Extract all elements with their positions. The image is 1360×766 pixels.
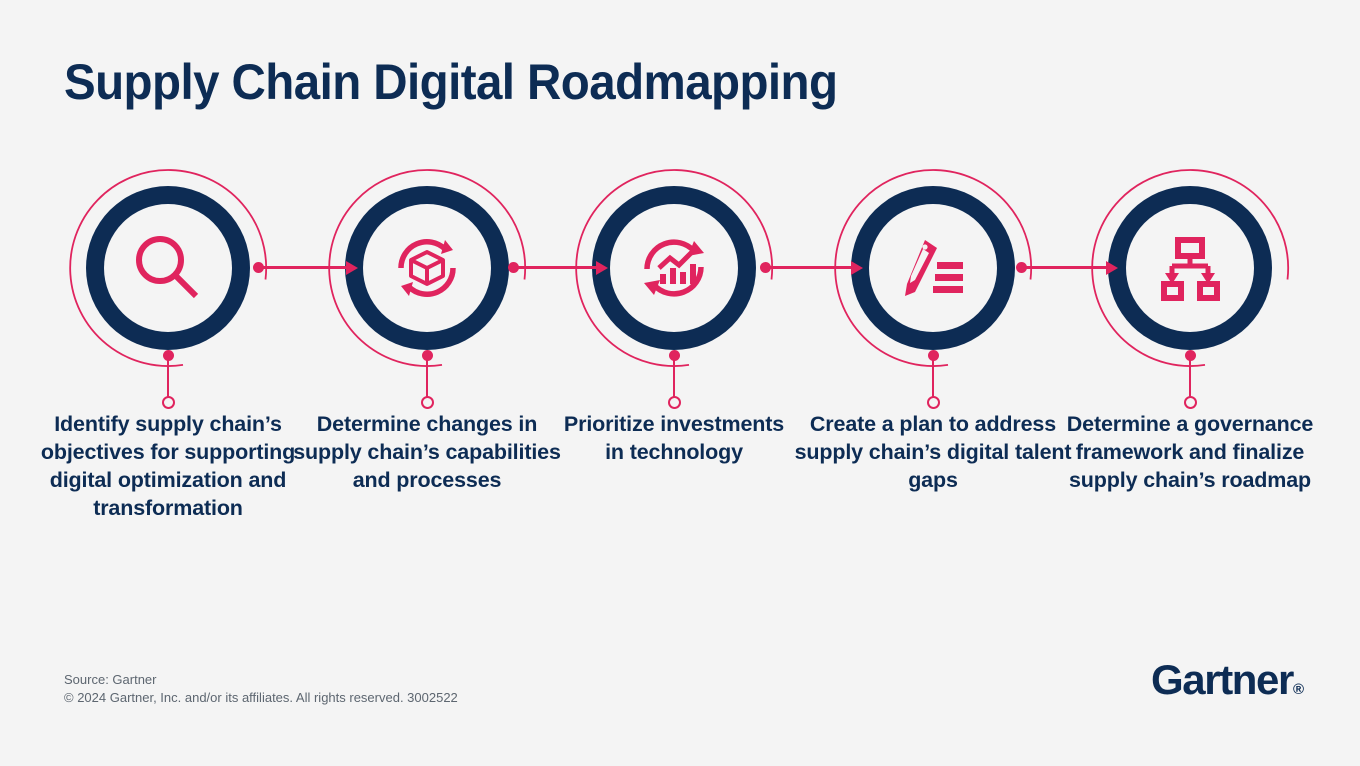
cube-refresh-icon xyxy=(385,226,469,310)
connector-arrowhead xyxy=(346,261,358,275)
registered-trademark-icon: ® xyxy=(1293,681,1304,698)
step-4-node xyxy=(833,168,1033,368)
footer-copyright: © 2024 Gartner, Inc. and/or its affiliat… xyxy=(64,689,458,707)
gartner-logo: Gartner® xyxy=(1151,659,1304,701)
step-1-node xyxy=(68,168,268,368)
connector-line xyxy=(1022,266,1110,269)
step-2-stem-endpoint xyxy=(421,396,434,409)
step-4-label: Create a plan to address supply chain’s … xyxy=(788,410,1078,494)
step-4-stem-endpoint xyxy=(927,396,940,409)
connector-dot xyxy=(760,262,771,273)
step-4-stem xyxy=(932,354,934,402)
step-2: Determine changes in supply chain’s capa… xyxy=(299,168,555,598)
connector-dot xyxy=(508,262,519,273)
connector-arrowhead xyxy=(1106,261,1118,275)
connector-arrow-3 xyxy=(760,260,863,276)
step-1-label: Identify supply chain’s objectives for s… xyxy=(23,410,313,522)
step-2-stem xyxy=(426,354,428,402)
magnifying-glass-icon xyxy=(126,226,210,310)
hierarchy-icon xyxy=(1148,226,1232,310)
step-5-node xyxy=(1090,168,1290,368)
step-3-stem xyxy=(673,354,675,402)
step-1-stem-endpoint xyxy=(162,396,175,409)
connector-arrowhead xyxy=(596,261,608,275)
connector-line xyxy=(259,266,350,269)
infographic-page: Supply Chain Digital Roadmapping xyxy=(0,0,1360,766)
connector-dot xyxy=(253,262,264,273)
connector-arrow-2 xyxy=(508,260,608,276)
bar-chart-refresh-icon xyxy=(632,226,716,310)
step-3: Prioritize investments in technology xyxy=(546,168,802,598)
step-2-label: Determine changes in supply chain’s capa… xyxy=(282,410,572,494)
connector-line xyxy=(766,266,855,269)
connector-arrow-4 xyxy=(1016,260,1118,276)
step-4: Create a plan to address supply chain’s … xyxy=(805,168,1061,598)
footer-attribution: Source: Gartner © 2024 Gartner, Inc. and… xyxy=(64,671,458,707)
connector-dot xyxy=(1016,262,1027,273)
process-steps: Identify supply chain’s objectives for s… xyxy=(0,168,1360,598)
step-1-stem xyxy=(167,354,169,402)
connector-arrow-1 xyxy=(253,260,358,276)
step-5: Determine a governance framework and fin… xyxy=(1062,168,1318,598)
step-5-label: Determine a governance framework and fin… xyxy=(1045,410,1335,494)
step-3-label: Prioritize investments in technology xyxy=(554,410,794,466)
step-3-stem-endpoint xyxy=(668,396,681,409)
step-1: Identify supply chain’s objectives for s… xyxy=(40,168,296,598)
footer-source: Source: Gartner xyxy=(64,671,458,689)
step-5-stem-endpoint xyxy=(1184,396,1197,409)
connector-arrowhead xyxy=(851,261,863,275)
pencil-document-icon xyxy=(891,226,975,310)
page-title: Supply Chain Digital Roadmapping xyxy=(64,57,837,107)
gartner-logo-text: Gartner xyxy=(1151,656,1293,703)
connector-line xyxy=(514,266,600,269)
step-5-stem xyxy=(1189,354,1191,402)
